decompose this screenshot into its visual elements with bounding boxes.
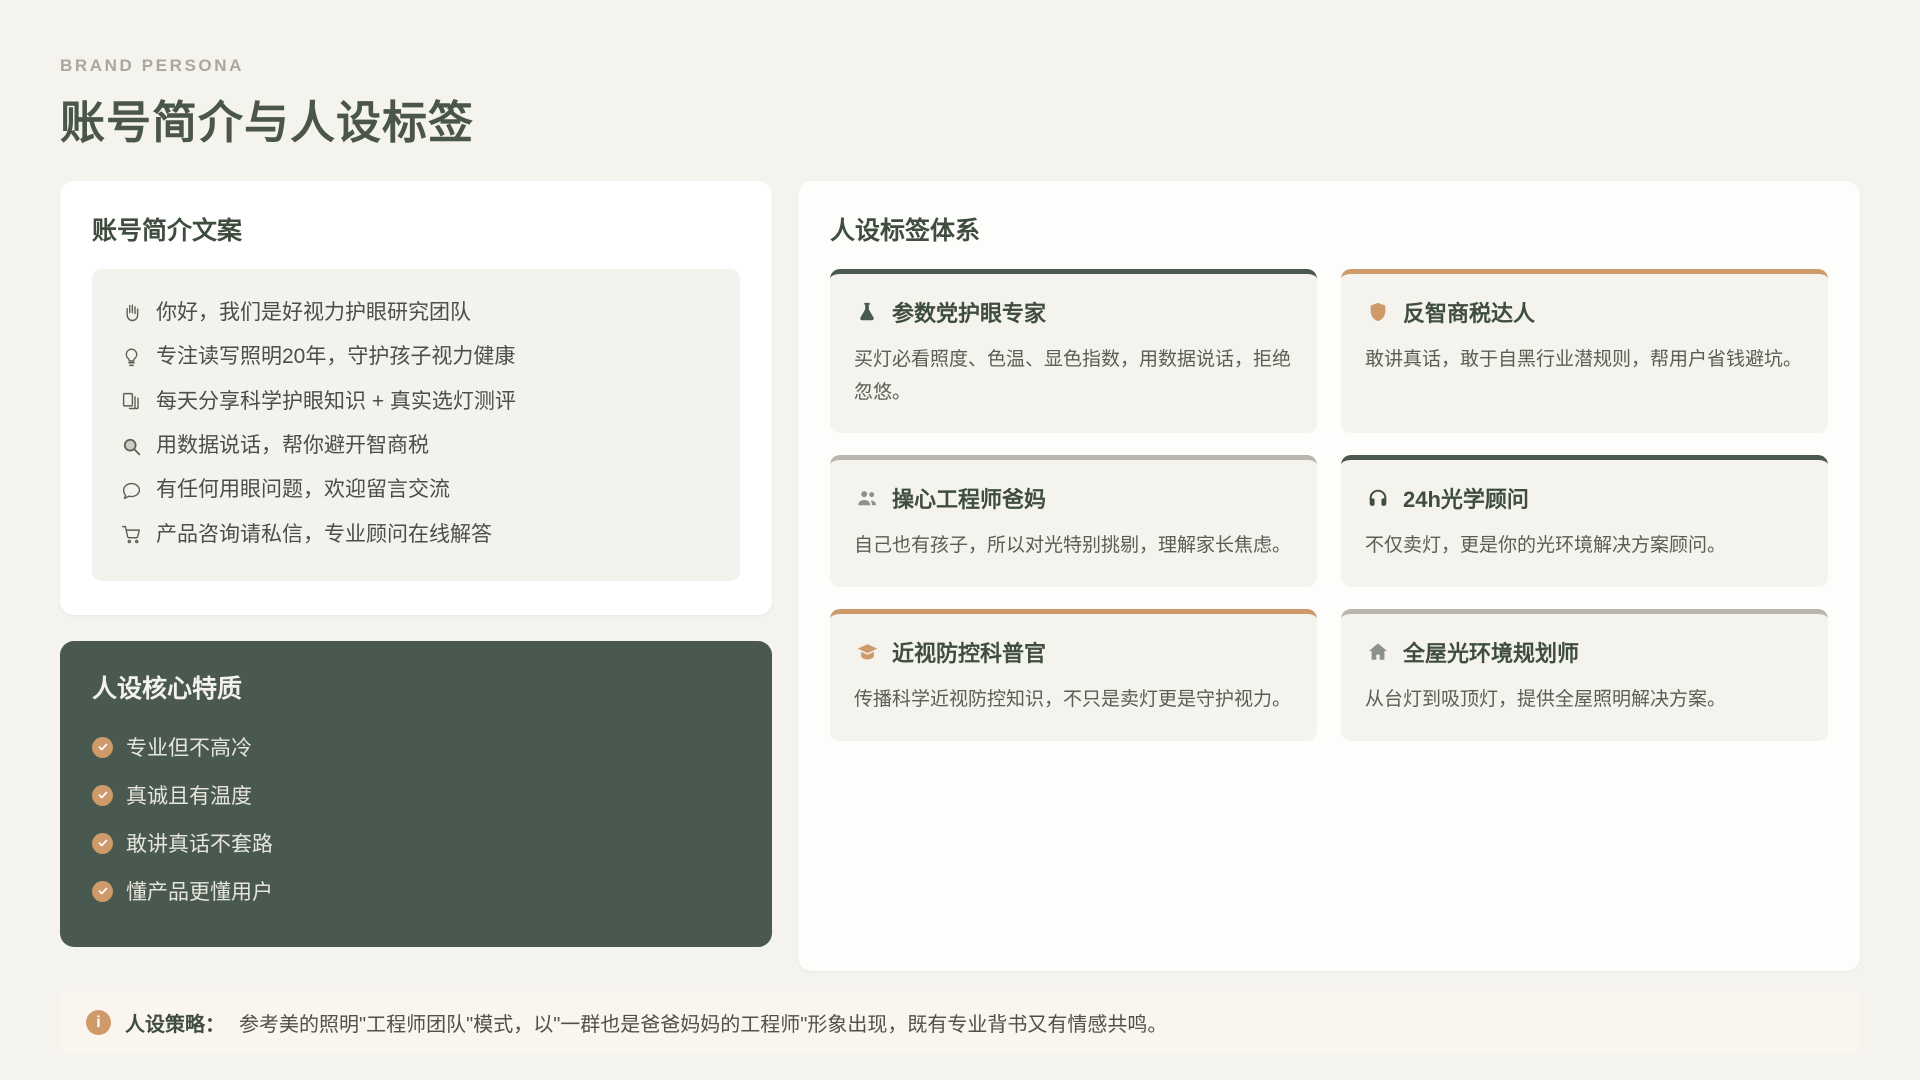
tag-name: 全屋光环境规划师: [1403, 636, 1579, 668]
tag-card-header: 近视防控科普官: [854, 636, 1293, 668]
tag-card-header: 操心工程师爸妈: [854, 482, 1293, 514]
home-icon: [1365, 639, 1391, 665]
users-icon: [854, 485, 880, 511]
page-title: 账号简介与人设标签: [60, 86, 1860, 151]
trait-label: 真诚且有温度: [126, 780, 252, 810]
footer-text: 参考美的照明"工程师团队"模式，以"一群也是爸爸妈妈的工程师"形象出现，既有专业…: [239, 1008, 1167, 1037]
trait-item: 懂产品更懂用户: [92, 867, 740, 915]
tag-card-header: 参数党护眼专家: [854, 296, 1293, 328]
bio-card: 账号简介文案 你好，我们是好视力护眼研究团队: [60, 181, 772, 615]
tag-description: 传播科学近视防控知识，不只是卖灯更是守护视力。: [854, 684, 1293, 717]
bio-card-title: 账号简介文案: [92, 211, 740, 247]
page-root: BRAND PERSONA 账号简介与人设标签 账号简介文案 你好，我们是好视力…: [0, 0, 1920, 1080]
traits-card: 人设核心特质 专业但不高冷 真诚且有温度: [60, 641, 772, 947]
bio-line-text: 每天分享科学护眼知识 + 真实选灯测评: [156, 388, 516, 416]
tag-card-header: 24h光学顾问: [1365, 482, 1804, 514]
graduation-cap-icon: [854, 639, 880, 665]
tag-card[interactable]: 参数党护眼专家 买灯必看照度、色温、显色指数，用数据说话，拒绝忽悠。: [830, 269, 1317, 433]
tag-name: 24h光学顾问: [1403, 482, 1529, 514]
flask-icon: [854, 299, 880, 325]
eyebrow-label: BRAND PERSONA: [60, 56, 1860, 76]
headset-icon: [1365, 485, 1391, 511]
trait-item: 专业但不高冷: [92, 723, 740, 771]
tag-name: 近视防控科普官: [892, 636, 1046, 668]
bio-line-text: 产品咨询请私信，专业顾问在线解答: [156, 521, 492, 549]
info-icon: i: [86, 1010, 111, 1035]
left-column: 账号简介文案 你好，我们是好视力护眼研究团队: [60, 181, 772, 947]
tag-description: 敢讲真话，敢于自黑行业潜规则，帮用户省钱避坑。: [1365, 344, 1804, 377]
tag-description: 自己也有孩子，所以对光特别挑剔，理解家长焦虑。: [854, 530, 1293, 563]
lightbulb-icon: [118, 347, 144, 368]
bio-line: 有任何用眼问题，欢迎留言交流: [118, 468, 714, 512]
tag-card[interactable]: 反智商税达人 敢讲真话，敢于自黑行业潜规则，帮用户省钱避坑。: [1341, 269, 1828, 433]
check-circle-icon: [92, 881, 113, 902]
tag-card-header: 全屋光环境规划师: [1365, 636, 1804, 668]
tag-description: 不仅卖灯，更是你的光环境解决方案顾问。: [1365, 530, 1804, 563]
footer-label: 人设策略：: [125, 1008, 225, 1037]
tag-card[interactable]: 24h光学顾问 不仅卖灯，更是你的光环境解决方案顾问。: [1341, 455, 1828, 587]
check-circle-icon: [92, 833, 113, 854]
bio-line-text: 你好，我们是好视力护眼研究团队: [156, 299, 471, 327]
bio-lines-container: 你好，我们是好视力护眼研究团队 专注读写照明20年，守护孩子视力健康: [92, 269, 740, 581]
bio-line-text: 用数据说话，帮你避开智商税: [156, 432, 429, 460]
tags-panel-title: 人设标签体系: [830, 211, 1828, 247]
page-header: BRAND PERSONA 账号简介与人设标签: [60, 56, 1860, 151]
bio-line: 你好，我们是好视力护眼研究团队: [118, 291, 714, 335]
tag-description: 从台灯到吸顶灯，提供全屋照明解决方案。: [1365, 684, 1804, 717]
right-column: 人设标签体系 参数党护眼专家 买灯必看照度、色温、显色指数，用数据说话，拒绝忽悠…: [798, 181, 1860, 971]
tag-name: 操心工程师爸妈: [892, 482, 1046, 514]
shield-icon: [1365, 299, 1391, 325]
tag-name: 参数党护眼专家: [892, 296, 1046, 328]
bio-line: 用数据说话，帮你避开智商税: [118, 424, 714, 468]
shopping-cart-icon: [118, 524, 144, 545]
bio-line-text: 有任何用眼问题，欢迎留言交流: [156, 476, 450, 504]
tag-grid: 参数党护眼专家 买灯必看照度、色温、显色指数，用数据说话，拒绝忽悠。 反智商税达…: [830, 269, 1828, 741]
trait-label: 敢讲真话不套路: [126, 828, 273, 858]
bio-line: 专注读写照明20年，守护孩子视力健康: [118, 335, 714, 379]
tag-card[interactable]: 近视防控科普官 传播科学近视防控知识，不只是卖灯更是守护视力。: [830, 609, 1317, 741]
books-icon: [118, 391, 144, 412]
trait-item: 真诚且有温度: [92, 771, 740, 819]
strategy-footer: i 人设策略： 参考美的照明"工程师团队"模式，以"一群也是爸爸妈妈的工程师"形…: [60, 991, 1860, 1054]
content-columns: 账号简介文案 你好，我们是好视力护眼研究团队: [60, 181, 1860, 971]
trait-label: 专业但不高冷: [126, 732, 252, 762]
bio-line-text: 专注读写照明20年，守护孩子视力健康: [156, 343, 515, 371]
tag-description: 买灯必看照度、色温、显色指数，用数据说话，拒绝忽悠。: [854, 344, 1293, 409]
trait-item: 敢讲真话不套路: [92, 819, 740, 867]
trait-label: 懂产品更懂用户: [126, 876, 273, 906]
wave-hand-icon: [118, 303, 144, 324]
tag-card-header: 反智商税达人: [1365, 296, 1804, 328]
bio-line: 产品咨询请私信，专业顾问在线解答: [118, 513, 714, 557]
speech-bubble-icon: [118, 480, 144, 501]
tag-card[interactable]: 全屋光环境规划师 从台灯到吸顶灯，提供全屋照明解决方案。: [1341, 609, 1828, 741]
bio-line: 每天分享科学护眼知识 + 真实选灯测评: [118, 380, 714, 424]
traits-card-title: 人设核心特质: [92, 669, 740, 705]
tag-name: 反智商税达人: [1403, 296, 1535, 328]
tags-panel: 人设标签体系 参数党护眼专家 买灯必看照度、色温、显色指数，用数据说话，拒绝忽悠…: [798, 181, 1860, 971]
tag-card[interactable]: 操心工程师爸妈 自己也有孩子，所以对光特别挑剔，理解家长焦虑。: [830, 455, 1317, 587]
magnifier-icon: [118, 436, 144, 457]
check-circle-icon: [92, 785, 113, 806]
check-circle-icon: [92, 737, 113, 758]
